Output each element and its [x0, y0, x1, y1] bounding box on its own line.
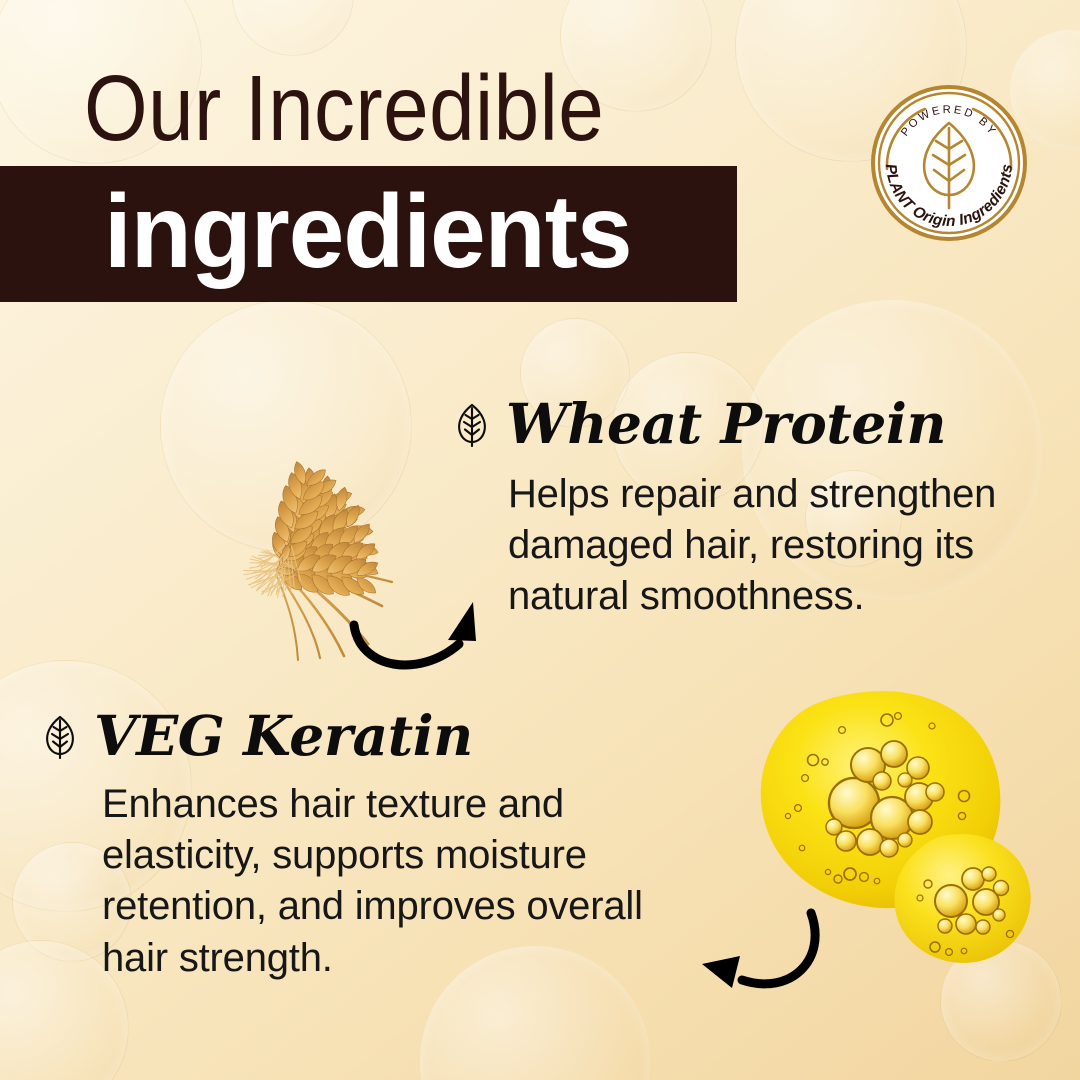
ingredient-wheat-protein: Wheat Protein Helps repair and strengthe…: [452, 396, 1052, 623]
plant-origin-badge: POWERED BY PLANT Origin Ingredients: [869, 83, 1029, 243]
ingredient-heading: VEG Keratin: [40, 708, 720, 763]
golden-oil-droplet-illustration: [742, 688, 1042, 973]
headline-band: ingredients: [0, 166, 737, 302]
ingredient-description: Enhances hair texture and elasticity, su…: [102, 779, 712, 984]
headline-line-1: Our Incredible: [84, 62, 604, 155]
leaf-icon: [40, 713, 80, 759]
headline-line-2: ingredients: [104, 180, 632, 284]
ingredients-poster: Our Incredible ingredients: [0, 0, 1080, 1080]
ingredient-heading: Wheat Protein: [452, 396, 1052, 451]
wheat-sheaf-illustration: [68, 368, 418, 668]
leaf-icon: [452, 401, 492, 447]
ingredient-description: Helps repair and strengthen damaged hair…: [508, 469, 1053, 623]
ingredient-title: VEG Keratin: [94, 708, 473, 763]
ingredient-title: Wheat Protein: [506, 396, 946, 451]
ingredient-veg-keratin: VEG Keratin Enhances hair texture and el…: [40, 708, 720, 984]
